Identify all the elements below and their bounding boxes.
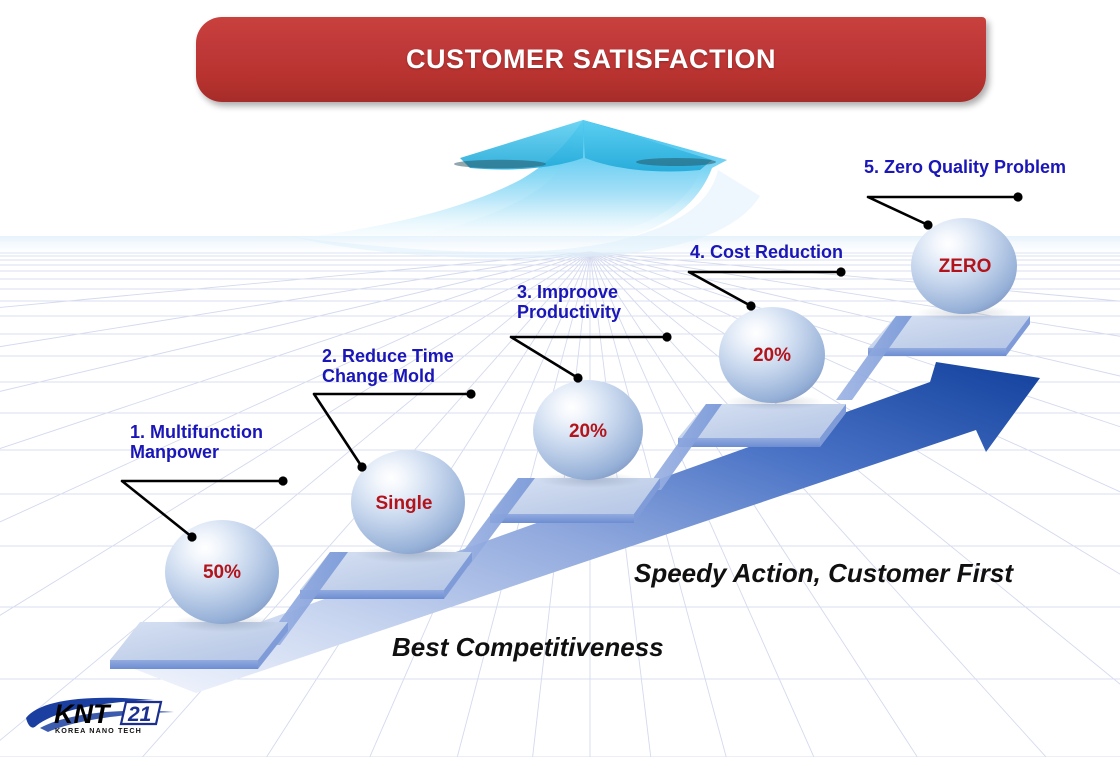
riser-4-5 — [836, 316, 912, 400]
step-label-3: 3. Improove Productivity — [517, 282, 621, 322]
logo-subtitle: KOREA NANO TECH — [55, 726, 142, 735]
slide-canvas: CUSTOMER SATISFACTION 1. Multifunction M… — [0, 0, 1120, 757]
sphere-label-2: Single — [375, 493, 432, 515]
slogan-best-competitiveness: Best Competitiveness — [392, 632, 664, 663]
logo-badge: 21 — [121, 702, 161, 726]
leader-dot-4b — [746, 301, 755, 310]
leader-line-5 — [868, 197, 1018, 225]
step-label-1: 1. Multifunction Manpower — [130, 422, 263, 462]
sphere-label-3: 20% — [569, 421, 607, 443]
leader-dot-3a — [662, 332, 671, 341]
sphere-label-1: 50% — [203, 562, 241, 584]
sphere-label-5: ZERO — [939, 256, 992, 278]
company-logo: KNT 21 KOREA NANO TECH — [22, 688, 202, 746]
leader-dot-3b — [573, 373, 582, 382]
page-title: CUSTOMER SATISFACTION — [406, 44, 776, 75]
title-banner: CUSTOMER SATISFACTION — [196, 17, 986, 102]
leader-dot-5a — [1013, 192, 1022, 201]
leader-dot-2b — [357, 462, 366, 471]
step-label-5: 5. Zero Quality Problem — [864, 157, 1066, 177]
slogan-speedy-action: Speedy Action, Customer First — [634, 558, 1013, 589]
sphere-label-4: 20% — [753, 345, 791, 367]
step-label-2: 2. Reduce Time Change Mold — [322, 346, 454, 386]
leader-dot-4a — [836, 267, 845, 276]
step-label-4: 4. Cost Reduction — [690, 242, 843, 262]
leader-dot-2a — [466, 389, 475, 398]
cyan-burst-arrow — [290, 120, 760, 259]
svg-text:21: 21 — [127, 703, 151, 726]
leader-dot-5b — [923, 220, 932, 229]
leader-dot-1b — [187, 532, 196, 541]
leader-dot-1a — [278, 476, 287, 485]
logo-main-text: KNT — [54, 699, 112, 729]
